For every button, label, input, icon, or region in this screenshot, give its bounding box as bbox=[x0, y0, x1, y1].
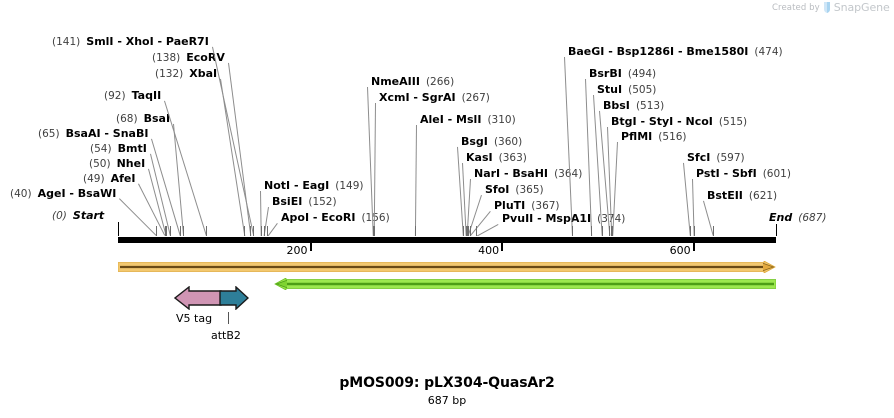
enzyme-label-bsgi[interactable]: BsgI (360) bbox=[461, 136, 522, 148]
enzyme-position: (494) bbox=[628, 68, 656, 80]
ruler-tick bbox=[310, 243, 312, 251]
enzyme-position: (360) bbox=[494, 136, 522, 148]
enzyme-name: BsgI bbox=[461, 135, 488, 148]
enzyme-label-smli-xhoi-paer7i[interactable]: (141) SmlI - XhoI - PaeR7I bbox=[52, 36, 209, 48]
leader-line-alei-msli bbox=[415, 125, 417, 236]
feature-arrow-green[interactable] bbox=[274, 275, 776, 294]
enzyme-label-bstei[interactable]: BstEII (621) bbox=[707, 190, 777, 202]
enzyme-label-bsaai-snabi[interactable]: (65) BsaAI - SnaBI bbox=[38, 128, 148, 140]
enzyme-name: NheI bbox=[117, 157, 146, 170]
enzyme-name: PluTI bbox=[494, 199, 525, 212]
enzyme-label-pluti[interactable]: PluTI (367) bbox=[494, 200, 560, 212]
enzyme-name: NmeAIII bbox=[371, 75, 420, 88]
enzyme-position: (515) bbox=[719, 116, 747, 128]
enzyme-name: AfeI bbox=[111, 172, 136, 185]
leader-line-baegi-bsp1286i-bme1580i bbox=[564, 57, 573, 236]
watermark-brand: SnapGene bbox=[834, 1, 890, 14]
enzyme-label-kasi[interactable]: KasI (363) bbox=[466, 152, 527, 164]
enzyme-name: PflMI bbox=[621, 130, 652, 143]
enzyme-position: (267) bbox=[462, 92, 490, 104]
enzyme-name: BsrBI bbox=[589, 67, 622, 80]
enzyme-label-bbsi[interactable]: BbsI (513) bbox=[603, 100, 664, 112]
enzyme-label-sfoi[interactable]: SfoI (365) bbox=[485, 184, 544, 196]
leader-line-start bbox=[118, 222, 119, 236]
enzyme-name: NotI - EagI bbox=[264, 179, 329, 192]
enzyme-label-stui[interactable]: StuI (505) bbox=[597, 84, 656, 96]
leader-line-end bbox=[776, 224, 777, 236]
enzyme-position: (266) bbox=[426, 76, 454, 88]
enzyme-name: SfcI bbox=[687, 151, 710, 164]
enzyme-label-pflmi[interactable]: PflMI (516) bbox=[621, 131, 687, 143]
leader-line-apoi-ecori bbox=[267, 223, 277, 237]
enzyme-label-start[interactable]: (0) Start bbox=[52, 210, 104, 222]
feature-arrow-v5-tag[interactable] bbox=[174, 286, 222, 310]
enzyme-position: (367) bbox=[531, 200, 559, 212]
enzyme-position: (687) bbox=[798, 212, 826, 224]
enzyme-label-bsiei[interactable]: BsiEI (152) bbox=[272, 196, 337, 208]
enzyme-label-nhei[interactable]: (50) NheI bbox=[89, 158, 145, 170]
enzyme-label-afei[interactable]: (49) AfeI bbox=[83, 173, 135, 185]
enzyme-position: (621) bbox=[749, 190, 777, 202]
enzyme-position: (65) bbox=[38, 128, 60, 140]
enzyme-position: (365) bbox=[515, 184, 543, 196]
enzyme-name: Start bbox=[73, 209, 104, 222]
enzyme-position: (50) bbox=[89, 158, 111, 170]
enzyme-position: (310) bbox=[487, 114, 515, 126]
enzyme-label-bsai[interactable]: (68) BsaI bbox=[116, 113, 170, 125]
enzyme-position: (40) bbox=[10, 188, 32, 200]
enzyme-name: EcoRV bbox=[186, 51, 225, 64]
enzyme-label-nari-bsahi[interactable]: NarI - BsaHI (364) bbox=[474, 168, 582, 180]
enzyme-label-nmeaiii[interactable]: NmeAIII (266) bbox=[371, 76, 454, 88]
enzyme-position: (54) bbox=[90, 143, 112, 155]
enzyme-name: StuI bbox=[597, 83, 622, 96]
enzyme-name: ApoI - EcoRI bbox=[281, 211, 355, 224]
enzyme-position: (149) bbox=[335, 180, 363, 192]
enzyme-position: (0) bbox=[52, 210, 67, 222]
enzyme-name: PvuII - MspA1I bbox=[502, 212, 591, 225]
ruler-tick bbox=[501, 243, 503, 251]
enzyme-position: (92) bbox=[104, 90, 126, 102]
leader-line-agei-bsawi bbox=[119, 198, 157, 236]
enzyme-label-xbai[interactable]: (132) XbaI bbox=[155, 68, 217, 80]
enzyme-position: (363) bbox=[499, 152, 527, 164]
leader-line-taqii bbox=[164, 101, 207, 236]
ruler-label: 400 bbox=[478, 244, 501, 257]
feature-label-attb2: attB2 bbox=[211, 329, 241, 342]
enzyme-position: (513) bbox=[636, 100, 664, 112]
enzyme-position: (516) bbox=[658, 131, 686, 143]
enzyme-name: SfoI bbox=[485, 183, 509, 196]
enzyme-position: (152) bbox=[308, 196, 336, 208]
enzyme-label-noti-eagi[interactable]: NotI - EagI (149) bbox=[264, 180, 364, 192]
enzyme-name: BstEII bbox=[707, 189, 743, 202]
enzyme-position: (597) bbox=[716, 152, 744, 164]
enzyme-name: SmlI - XhoI - PaeR7I bbox=[86, 35, 209, 48]
feature-leader-attb2 bbox=[228, 312, 229, 324]
enzyme-label-psti-sbfi[interactable]: PstI - SbfI (601) bbox=[696, 168, 791, 180]
enzyme-name: BaeGI - Bsp1286I - Bme1580I bbox=[568, 45, 748, 58]
ruler-label: 600 bbox=[670, 244, 693, 257]
enzyme-name: KasI bbox=[466, 151, 493, 164]
enzyme-position: (474) bbox=[754, 46, 782, 58]
enzyme-position: (132) bbox=[155, 68, 183, 80]
enzyme-position: (138) bbox=[152, 52, 180, 64]
enzyme-name: TaqII bbox=[132, 89, 162, 102]
watermark-prefix: Created by bbox=[772, 3, 820, 13]
enzyme-position: (505) bbox=[628, 84, 656, 96]
enzyme-name: BsaAI - SnaBI bbox=[66, 127, 149, 140]
enzyme-name: BtgI - StyI - NcoI bbox=[611, 115, 713, 128]
feature-arrow-attb2[interactable] bbox=[219, 286, 249, 310]
map-subtitle: 687 bp bbox=[0, 394, 894, 407]
feature-label-v5-tag: V5 tag bbox=[176, 312, 212, 325]
enzyme-name: AleI - MslI bbox=[420, 113, 481, 126]
enzyme-position: (49) bbox=[83, 173, 105, 185]
enzyme-name: NarI - BsaHI bbox=[474, 167, 548, 180]
enzyme-name: BbsI bbox=[603, 99, 630, 112]
snapgene-logo-icon bbox=[823, 2, 831, 13]
enzyme-position: (601) bbox=[763, 168, 791, 180]
enzyme-name: BsiEI bbox=[272, 195, 302, 208]
ruler-label: 200 bbox=[287, 244, 310, 257]
enzyme-position: (156) bbox=[361, 212, 389, 224]
enzyme-label-end[interactable]: End (687) bbox=[769, 212, 827, 224]
enzyme-position: (141) bbox=[52, 36, 80, 48]
enzyme-name: End bbox=[769, 211, 792, 224]
enzyme-position: (68) bbox=[116, 113, 138, 125]
enzyme-label-baegi-bsp1286i-bme1580i[interactable]: BaeGI - Bsp1286I - Bme1580I (474) bbox=[568, 46, 783, 58]
sequence-backbone bbox=[118, 236, 776, 243]
ruler-tick bbox=[693, 243, 695, 251]
enzyme-name: XbaI bbox=[189, 67, 217, 80]
enzyme-label-sfci[interactable]: SfcI (597) bbox=[687, 152, 745, 164]
snapgene-linear-map: Created by SnapGene (141) SmlI - XhoI - … bbox=[0, 0, 894, 418]
enzyme-label-bmti[interactable]: (54) BmtI bbox=[90, 143, 147, 155]
snapgene-watermark: Created by SnapGene bbox=[772, 1, 890, 14]
enzyme-label-alei-msli[interactable]: AleI - MslI (310) bbox=[420, 114, 516, 126]
leader-line-afei bbox=[138, 184, 165, 236]
map-title: pMOS009: pLX304-QuasAr2 bbox=[0, 375, 894, 391]
enzyme-name: XcmI - SgrAI bbox=[379, 91, 456, 104]
enzyme-label-bsrbi[interactable]: BsrBI (494) bbox=[589, 68, 656, 80]
enzyme-name: PstI - SbfI bbox=[696, 167, 757, 180]
enzyme-label-btgi-styi-ncoi[interactable]: BtgI - StyI - NcoI (515) bbox=[611, 116, 747, 128]
leader-line-pvuii-mspa1i bbox=[476, 224, 498, 237]
enzyme-label-taqii[interactable]: (92) TaqII bbox=[104, 90, 161, 102]
enzyme-label-xcmi-sgrai[interactable]: XcmI - SgrAI (267) bbox=[379, 92, 490, 104]
enzyme-label-agei-bsawi[interactable]: (40) AgeI - BsaWI bbox=[10, 188, 116, 200]
enzyme-name: AgeI - BsaWI bbox=[38, 187, 117, 200]
enzyme-name: BsaI bbox=[144, 112, 170, 125]
enzyme-name: BmtI bbox=[118, 142, 147, 155]
